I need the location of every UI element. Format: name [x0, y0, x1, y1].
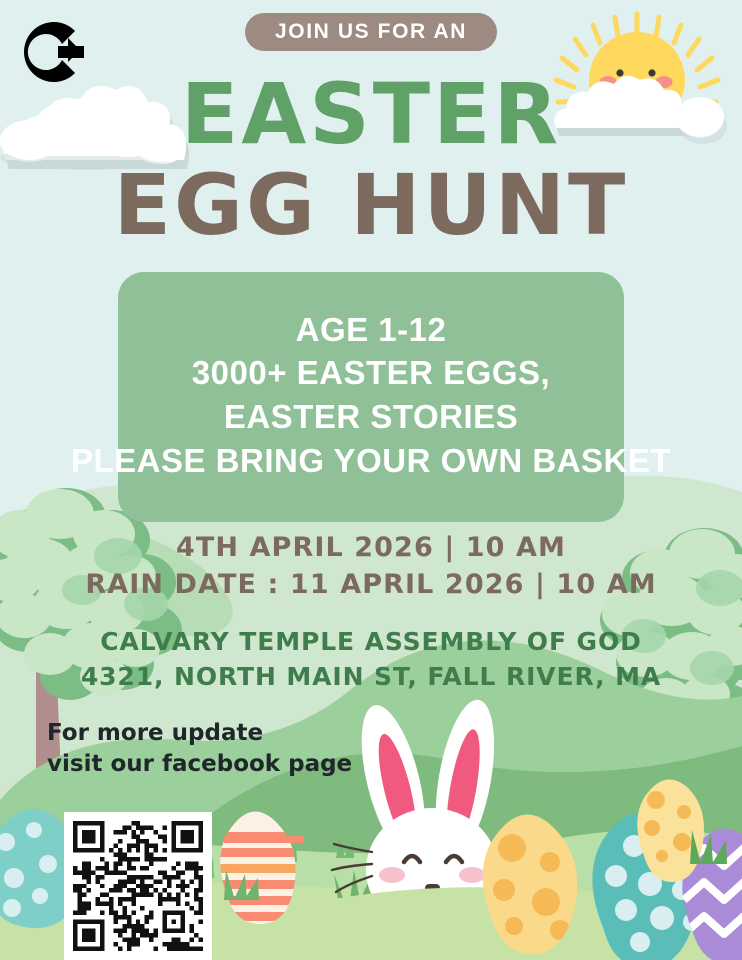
panel-line-age: AGE 1-12 [296, 308, 447, 352]
panel-line-stories: EASTER STORIES [224, 395, 518, 439]
title-easter: EASTER [0, 72, 742, 156]
title-egg-hunt: EGG HUNT [0, 163, 742, 247]
panel-line-basket: PLEASE BRING YOUR OWN BASKET [71, 439, 671, 483]
event-date-rain: RAIN DATE : 11 APRIL 2026 | 10 AM [0, 566, 742, 604]
event-details-panel: AGE 1-12 3000+ EASTER EGGS, EASTER STORI… [118, 272, 624, 522]
facebook-note: For more update visit our facebook page [47, 718, 352, 779]
facebook-note-line2: visit our facebook page [47, 749, 352, 780]
venue-address: 4321, NORTH MAIN ST, FALL RIVER, MA [0, 660, 742, 695]
join-us-badge: JOIN US FOR AN [245, 13, 497, 51]
facebook-page-qr-code[interactable] [64, 812, 212, 960]
qr-code-svg [73, 821, 203, 951]
easter-egg-hunt-flyer: JOIN US FOR AN EASTER EGG HUNT AGE 1-12 … [0, 0, 742, 960]
event-venue: CALVARY TEMPLE ASSEMBLY OF GOD 4321, NOR… [0, 625, 742, 694]
event-dates: 4TH APRIL 2026 | 10 AM RAIN DATE : 11 AP… [0, 530, 742, 605]
event-date-primary: 4TH APRIL 2026 | 10 AM [0, 530, 742, 566]
venue-name: CALVARY TEMPLE ASSEMBLY OF GOD [0, 625, 742, 660]
panel-line-eggs: 3000+ EASTER EGGS, [192, 351, 550, 395]
facebook-note-line1: For more update [47, 718, 352, 749]
